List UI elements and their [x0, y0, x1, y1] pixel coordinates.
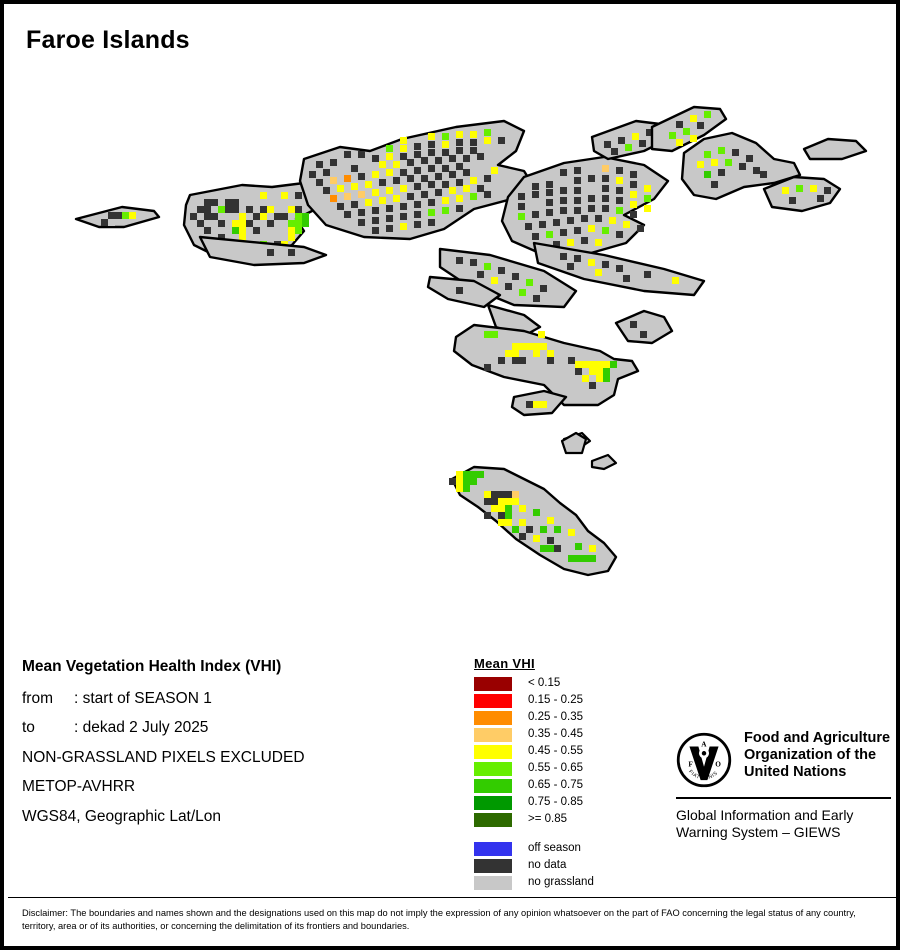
- disclaimer-text: Disclaimer: The boundaries and names sho…: [22, 907, 877, 934]
- info-from-key: from: [22, 691, 74, 707]
- legend-class-swatch: [474, 745, 512, 759]
- legend-class-label: 0.35 - 0.45: [528, 729, 583, 741]
- map-svg[interactable]: [4, 59, 896, 639]
- giews-line1: Global Information and Early: [676, 807, 891, 824]
- legend-class-swatch: [474, 762, 512, 776]
- fao-branding: F A O FIAT PANIS Food and Agriculture Or…: [676, 730, 891, 841]
- legend-class-label: 0.15 - 0.25: [528, 695, 583, 707]
- svg-text:F: F: [688, 761, 693, 769]
- legend-class-label: 0.55 - 0.65: [528, 763, 583, 775]
- legend-special-label: off season: [528, 843, 581, 855]
- legend-special-swatch: [474, 859, 512, 873]
- giews-line2: Warning System – GIEWS: [676, 824, 891, 841]
- info-to-value: : dekad 2 July 2025: [74, 719, 208, 736]
- legend-special-row: no data: [474, 858, 654, 874]
- fao-logo-icon: F A O FIAT PANIS: [676, 732, 732, 788]
- legend-class-row: >= 0.85: [474, 812, 654, 828]
- legend-special-swatch: [474, 876, 512, 890]
- info-sensor: METOP-AVHRR: [22, 779, 452, 795]
- map-info-block: Mean Vegetation Health Index (VHI) from:…: [22, 659, 452, 838]
- fao-org-line3: United Nations: [744, 764, 890, 781]
- legend-class-swatch: [474, 677, 512, 691]
- legend: Mean VHI < 0.150.15 - 0.250.25 - 0.350.3…: [474, 656, 654, 892]
- info-projection: WGS84, Geographic Lat/Lon: [22, 809, 452, 825]
- legend-spacer: [474, 829, 654, 841]
- legend-class-label: 0.65 - 0.75: [528, 780, 583, 792]
- legend-class-row: 0.25 - 0.35: [474, 710, 654, 726]
- legend-class-row: 0.75 - 0.85: [474, 795, 654, 811]
- legend-class-label: 0.75 - 0.85: [528, 797, 583, 809]
- legend-class-swatch: [474, 813, 512, 827]
- legend-special-label: no data: [528, 860, 566, 872]
- legend-special-list: off seasonno datano grassland: [474, 841, 654, 891]
- fao-divider: [676, 797, 891, 799]
- legend-class-swatch: [474, 711, 512, 725]
- legend-class-swatch: [474, 694, 512, 708]
- legend-class-label: >= 0.85: [528, 814, 567, 826]
- fao-org-line2: Organization of the: [744, 747, 890, 764]
- page-title: Faroe Islands: [26, 26, 190, 55]
- fao-org-line1: Food and Agriculture: [744, 730, 890, 747]
- legend-class-swatch: [474, 779, 512, 793]
- legend-class-row: 0.45 - 0.55: [474, 744, 654, 760]
- map-poster: Faroe Islands: [0, 0, 900, 950]
- svg-text:O: O: [715, 761, 721, 769]
- legend-class-label: < 0.15: [528, 678, 560, 690]
- map-canvas[interactable]: [4, 59, 896, 639]
- legend-class-row: < 0.15: [474, 676, 654, 692]
- info-to-row: to: dekad 2 July 2025: [22, 720, 452, 736]
- legend-title: Mean VHI: [474, 656, 654, 671]
- legend-class-swatch: [474, 728, 512, 742]
- legend-class-row: 0.35 - 0.45: [474, 727, 654, 743]
- legend-class-label: 0.45 - 0.55: [528, 746, 583, 758]
- legend-special-row: off season: [474, 841, 654, 857]
- legend-class-row: 0.15 - 0.25: [474, 693, 654, 709]
- legend-class-row: 0.55 - 0.65: [474, 761, 654, 777]
- info-from-row: from: start of SEASON 1: [22, 691, 452, 707]
- fao-organization-name: Food and Agriculture Organization of the…: [744, 730, 890, 781]
- legend-special-row: no grassland: [474, 875, 654, 891]
- info-to-key: to: [22, 720, 74, 736]
- legend-class-swatch: [474, 796, 512, 810]
- legend-class-row: 0.65 - 0.75: [474, 778, 654, 794]
- info-heading: Mean Vegetation Health Index (VHI): [22, 659, 452, 675]
- disclaimer-divider: [8, 897, 900, 898]
- legend-special-swatch: [474, 842, 512, 856]
- legend-class-label: 0.25 - 0.35: [528, 712, 583, 724]
- giews-name: Global Information and Early Warning Sys…: [676, 807, 891, 841]
- svg-text:A: A: [701, 741, 707, 749]
- fao-header: F A O FIAT PANIS Food and Agriculture Or…: [676, 730, 891, 788]
- info-pixels-note: NON-GRASSLAND PIXELS EXCLUDED: [22, 750, 452, 766]
- info-from-value: : start of SEASON 1: [74, 690, 212, 707]
- legend-special-label: no grassland: [528, 877, 594, 889]
- legend-class-list: < 0.150.15 - 0.250.25 - 0.350.35 - 0.450…: [474, 676, 654, 828]
